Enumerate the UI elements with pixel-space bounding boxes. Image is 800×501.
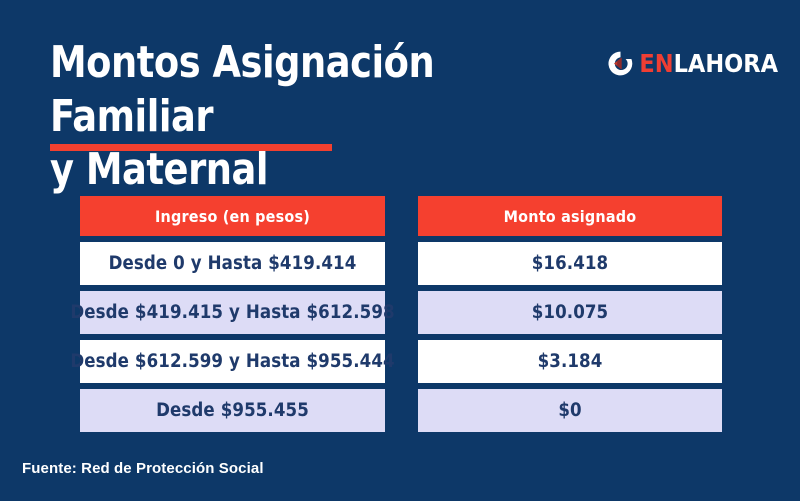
table-row: Desde $955.455 bbox=[80, 389, 385, 432]
logo-wordmark: ENLAHORA bbox=[639, 51, 778, 76]
table-row: $10.075 bbox=[418, 291, 722, 334]
header-section: Montos Asignación Familiar y Maternal EN… bbox=[0, 0, 800, 175]
column-header-income: Ingreso (en pesos) bbox=[80, 196, 385, 236]
table-column-income: Ingreso (en pesos) Desde 0 y Hasta $419.… bbox=[80, 196, 385, 432]
table-row: Desde 0 y Hasta $419.414 bbox=[80, 242, 385, 285]
title-underline bbox=[50, 144, 332, 151]
table-row: $16.418 bbox=[418, 242, 722, 285]
logo-text-en: EN bbox=[639, 49, 673, 78]
table-row: $3.184 bbox=[418, 340, 722, 383]
table-row: Desde $612.599 y Hasta $955.444 bbox=[80, 340, 385, 383]
page-title: Montos Asignación Familiar y Maternal bbox=[50, 36, 580, 197]
source-note: Fuente: Red de Protección Social bbox=[22, 460, 264, 477]
table-row: Desde $419.415 y Hasta $612.598 bbox=[80, 291, 385, 334]
table-column-amount: Monto asignado $16.418 $10.075 $3.184 $0 bbox=[418, 196, 722, 432]
table-row: $0 bbox=[418, 389, 722, 432]
brand-logo[interactable]: ENLAHORA bbox=[607, 48, 778, 78]
column-header-amount: Monto asignado bbox=[418, 196, 722, 236]
enlahora-play-circle-icon bbox=[607, 50, 634, 77]
amounts-table: Ingreso (en pesos) Desde 0 y Hasta $419.… bbox=[80, 196, 722, 432]
logo-text-lahora: LAHORA bbox=[674, 49, 778, 78]
